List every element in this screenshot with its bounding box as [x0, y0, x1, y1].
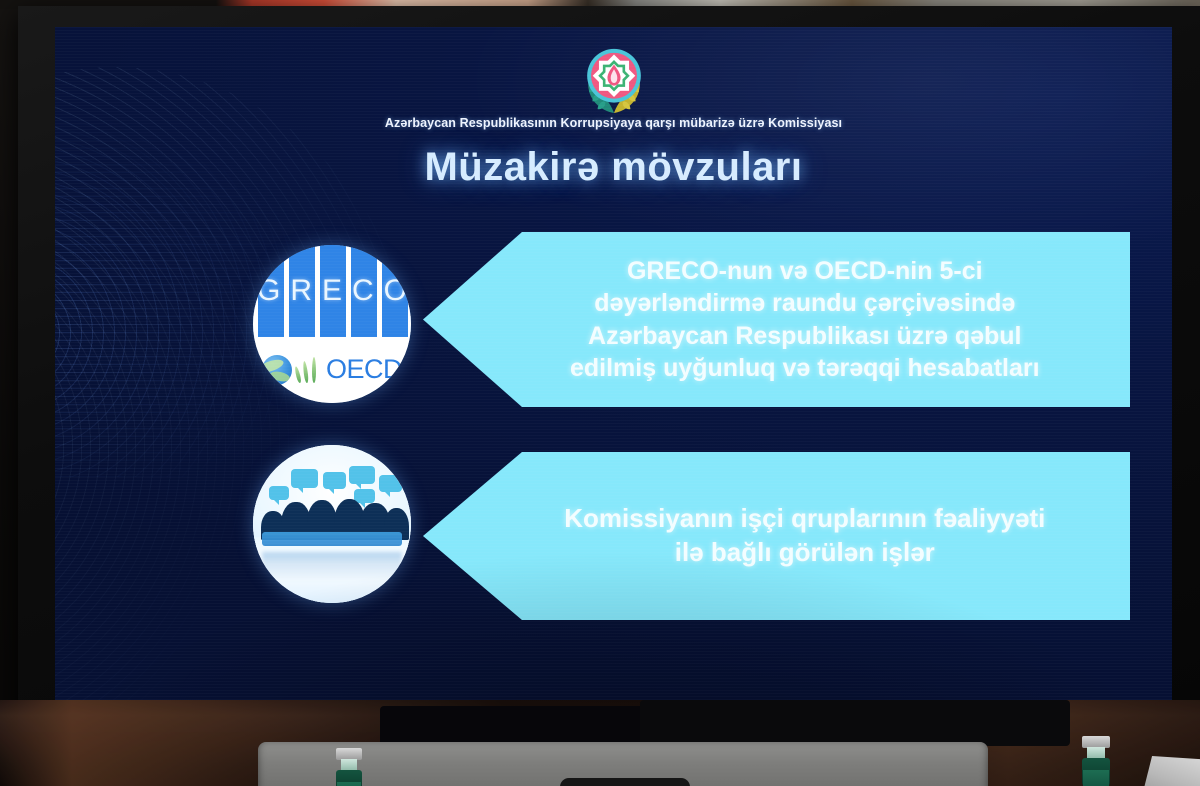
- speech-bubble-icon: [379, 475, 401, 492]
- conference-room-scene: Azərbaycan Respublikasının Korrupsiyaya …: [0, 0, 1200, 786]
- speech-bubble-icon: [291, 469, 318, 488]
- greco-logo-text: GRECO: [253, 245, 411, 337]
- callout-2-line-1: Komissiyanın işçi qruplarının fəaliyyəti: [564, 502, 1045, 536]
- callout-1-line-2: dəyərləndirmə raundu çərçivəsində: [570, 287, 1040, 320]
- television-screen: Azərbaycan Respublikasının Korrupsiyaya …: [55, 27, 1172, 700]
- water-bottle: [1082, 736, 1110, 786]
- callout-2-line-2: ilə bağlı görülən işlər: [564, 536, 1045, 570]
- greco-oecd-logo-icon: GRECO OECD: [253, 245, 411, 403]
- speech-bubble-icon: [269, 486, 290, 500]
- azerbaijan-coat-of-arms-icon: [581, 45, 647, 117]
- meeting-table-illustration-icon: [253, 445, 411, 603]
- oecd-globe-icon: [262, 355, 292, 385]
- callout-1-line-4: edilmiş uyğunluq və tərəqqi hesabatları: [570, 352, 1040, 385]
- television-bezel: Azərbaycan Respublikasının Korrupsiyaya …: [18, 6, 1200, 732]
- dark-furniture-shadow: [640, 700, 1070, 746]
- speech-bubble-icon: [323, 472, 347, 489]
- organization-name: Azərbaycan Respublikasının Korrupsiyaya …: [55, 116, 1172, 130]
- callout-1-line-1: GRECO-nun və OECD-nin 5-ci: [570, 255, 1040, 288]
- callout-1-line-3: Azərbaycan Respublikası üzrə qəbul: [570, 320, 1040, 353]
- page-title: Müzakirə mövzuları: [55, 145, 1172, 190]
- agenda-callout-1-text: GRECO-nun və OECD-nin 5-ci dəyərləndirmə…: [499, 255, 1053, 385]
- water-bottle: [336, 748, 362, 786]
- agenda-callout-2-text: Komissiyanın işçi qruplarının fəaliyyəti…: [494, 502, 1060, 570]
- table-illustration: [262, 532, 401, 546]
- speech-bubble-icon: [349, 466, 374, 485]
- agenda-callout-1[interactable]: GRECO-nun və OECD-nin 5-ci dəyərləndirmə…: [423, 232, 1130, 407]
- agenda-callout-2[interactable]: Komissiyanın işçi qruplarının fəaliyyəti…: [423, 452, 1130, 620]
- oecd-logo-text: OECD: [326, 354, 402, 385]
- oecd-swoosh-icon: [296, 355, 322, 385]
- presentation-slide: Azərbaycan Respublikasının Korrupsiyaya …: [55, 27, 1172, 700]
- chair-handle: [560, 778, 690, 786]
